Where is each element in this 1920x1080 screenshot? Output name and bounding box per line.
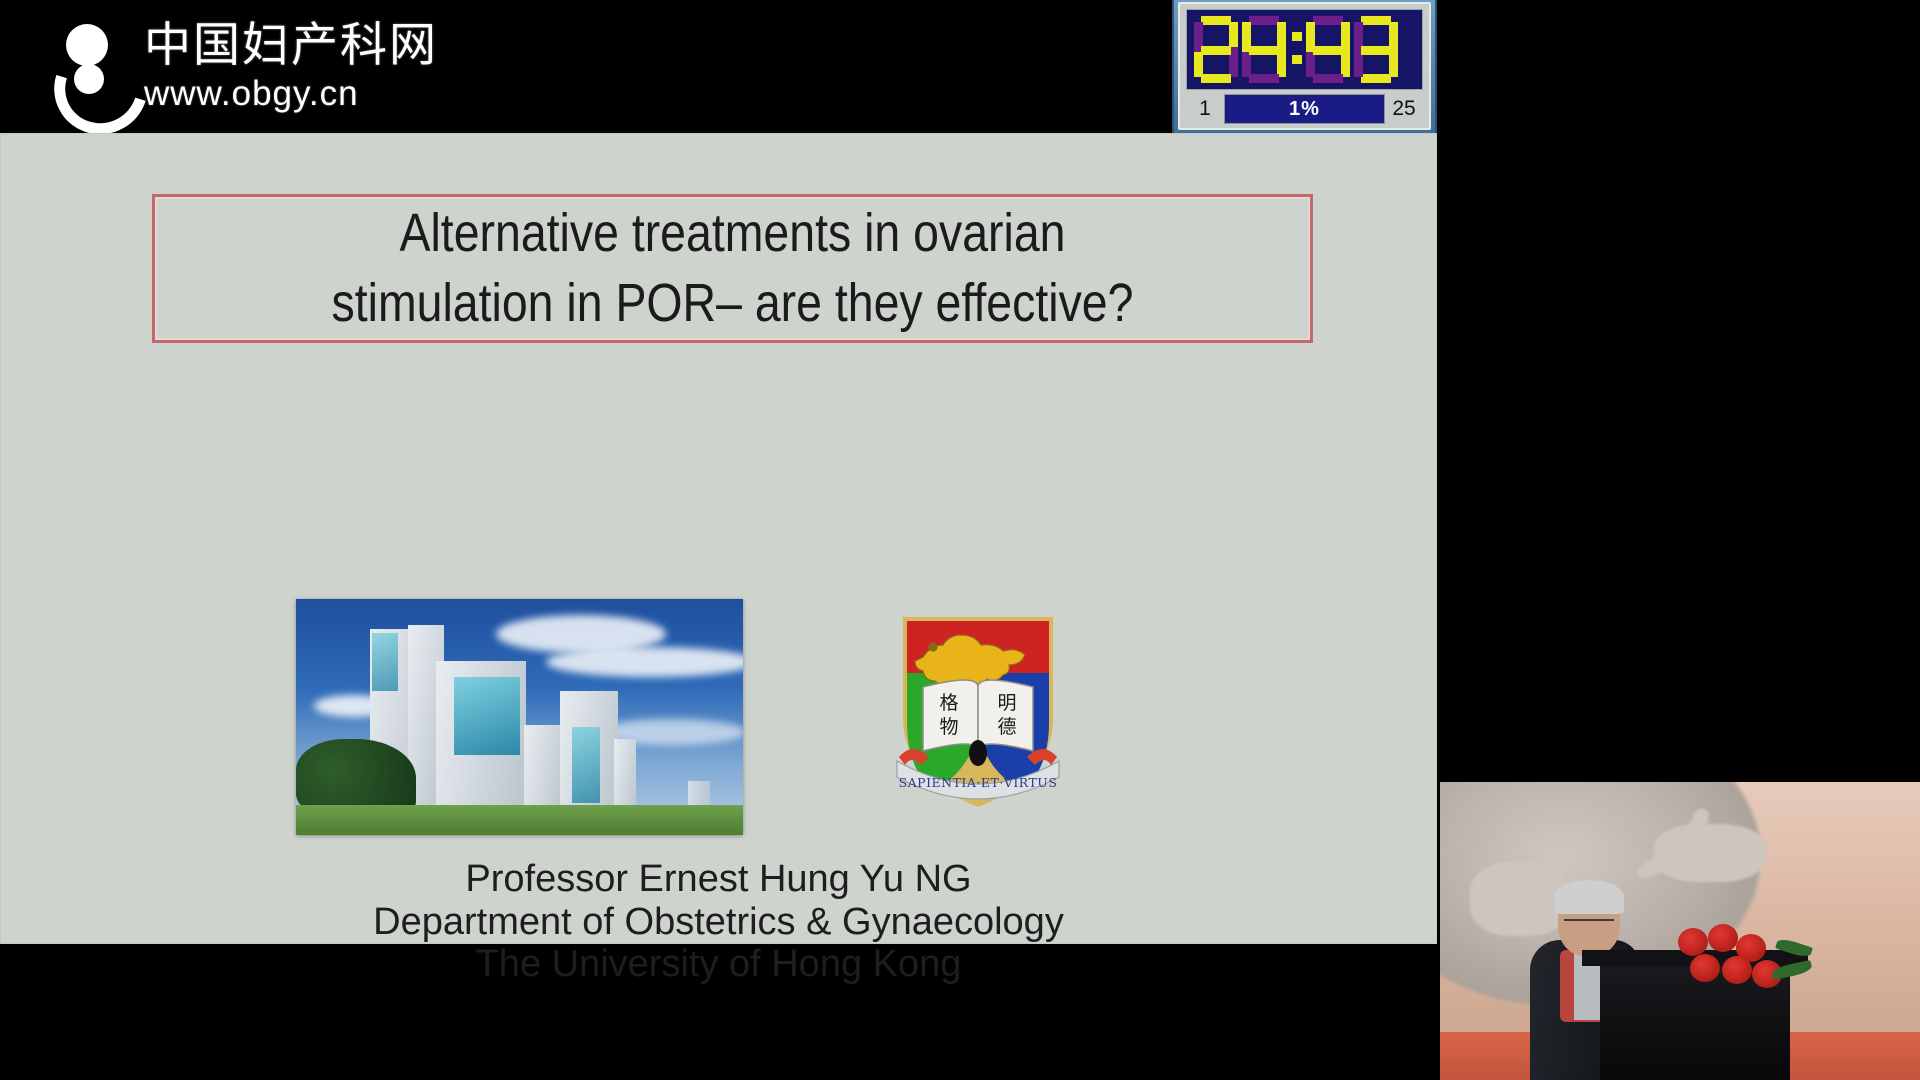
site-url: www.obgy.cn — [144, 76, 438, 111]
svg-text:明: 明 — [997, 692, 1016, 714]
university-of-hong-kong-crest-icon: 格物 明德 SAPIENTIA·ET·VIRTUS — [893, 611, 1063, 811]
svg-text:SAPIENTIA·ET·VIRTUS: SAPIENTIA·ET·VIRTUS — [899, 775, 1058, 790]
digit-minutes-ones — [1241, 14, 1287, 85]
current-slide-number: 1 — [1186, 94, 1224, 124]
slide-progress-bar[interactable]: 1% — [1224, 94, 1385, 124]
presenter-department: Department of Obstetrics & Gynaecology — [0, 901, 1437, 944]
speaker-video-panel[interactable] — [1440, 770, 1920, 1080]
obgy-circle-logo-icon — [52, 20, 130, 112]
total-slide-number: 25 — [1385, 94, 1423, 124]
digit-seconds-tens — [1305, 14, 1351, 85]
site-name-chinese: 中国妇产科网 — [144, 22, 438, 69]
presenter-name: Professor Ernest Hung Yu NG — [0, 858, 1437, 901]
timer-frame: 1 1% 25 — [1178, 2, 1431, 130]
svg-text:格: 格 — [939, 692, 958, 714]
timer-display — [1186, 9, 1423, 90]
slide-title-box: Alternative treatments in ovarian stimul… — [152, 194, 1313, 343]
countdown-timer-widget[interactable]: 1 1% 25 — [1172, 0, 1437, 136]
slide-title: Alternative treatments in ovarian stimul… — [236, 197, 1229, 340]
digit-seconds-ones — [1353, 14, 1399, 85]
slide-progress-row: 1 1% 25 — [1186, 94, 1423, 124]
svg-text:物: 物 — [939, 716, 958, 738]
presenter-institution: The University of Hong Kong — [0, 943, 1437, 986]
digit-minutes-tens — [1193, 14, 1239, 85]
seven-segment-row — [1193, 14, 1401, 85]
presentation-slide[interactable]: Alternative treatments in ovarian stimul… — [0, 133, 1437, 944]
timer-colon-icon — [1289, 14, 1305, 85]
slide-title-line-2: stimulation in POR– are they effective? — [332, 269, 1134, 338]
slide-title-line-1: Alternative treatments in ovarian — [400, 199, 1066, 268]
presenter-details: Professor Ernest Hung Yu NG Department o… — [0, 858, 1437, 986]
hospital-building-photo — [296, 599, 743, 835]
screen: 中国妇产科网 www.obgy.cn — [0, 0, 1920, 1080]
logo-text-block: 中国妇产科网 www.obgy.cn — [144, 22, 438, 111]
svg-text:德: 德 — [997, 716, 1016, 738]
site-logo: 中国妇产科网 www.obgy.cn — [52, 20, 438, 112]
